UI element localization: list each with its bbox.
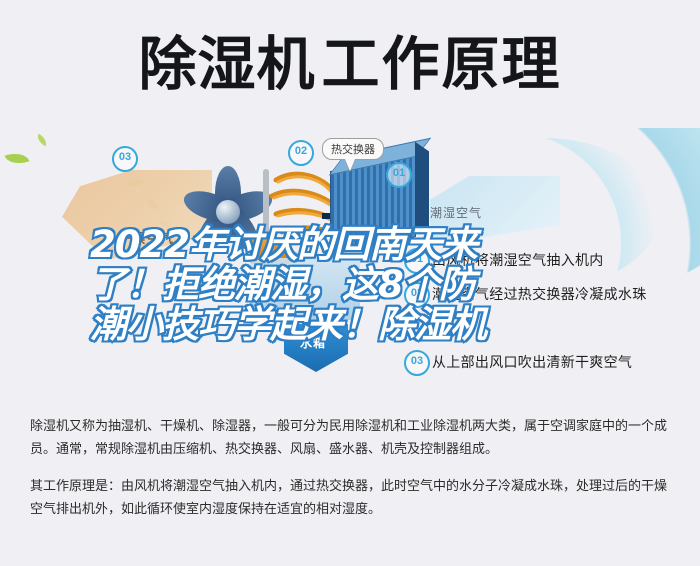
legend-row-02: 潮湿空气经过热交换器冷凝成水珠	[432, 284, 647, 304]
water-tank-label: 水箱	[300, 334, 326, 351]
step-badge-03-legend: 03	[404, 350, 430, 376]
body-copy: 除湿机又称为抽湿机、干燥机、除湿器，一般可分为民用除湿机和工业除湿机两大类，属于…	[30, 415, 675, 535]
page-title: 除湿机工作原理	[138, 35, 561, 93]
step-badge-01-legend: 01	[404, 248, 430, 274]
step-badge-02-diagram: 02	[288, 140, 314, 166]
title-part-2: 工作原理	[322, 30, 562, 98]
humid-air-label: 潮湿空气	[430, 204, 482, 221]
fan-hub	[216, 200, 240, 224]
body-paragraph-2: 其工作原理是：由风机将潮湿空气抽入机内，通过热交换器，此时空气中的水分子冷凝成水…	[30, 475, 675, 521]
step-badge-02-legend: 02	[404, 282, 430, 308]
legend-row-01: 由风机将潮湿空气抽入机内	[432, 250, 604, 270]
heat-exchanger-callout: 热交换器	[322, 138, 384, 160]
page-root: 除湿机工作原理 干燥空气	[0, 0, 700, 566]
legend-row-03: 从上部出风口吹出清新干爽空气	[432, 352, 632, 372]
step-badge-03-diagram: 03	[112, 146, 138, 172]
illustration-stage: 干燥空气	[0, 128, 700, 400]
heat-exchanger-side	[415, 142, 429, 236]
leaf-icon	[5, 149, 30, 168]
dry-air-label: 干燥空气	[118, 228, 174, 247]
title-band: 除湿机工作原理	[0, 0, 700, 128]
body-paragraph-1: 除湿机又称为抽湿机、干燥机、除湿器，一般可分为民用除湿机和工业除湿机两大类，属于…	[30, 415, 675, 461]
leaf-icon	[35, 134, 49, 147]
unit-cabinet	[250, 258, 360, 320]
title-part-1: 除湿机	[138, 30, 315, 98]
step-badge-01-diagram: 01	[386, 162, 412, 188]
